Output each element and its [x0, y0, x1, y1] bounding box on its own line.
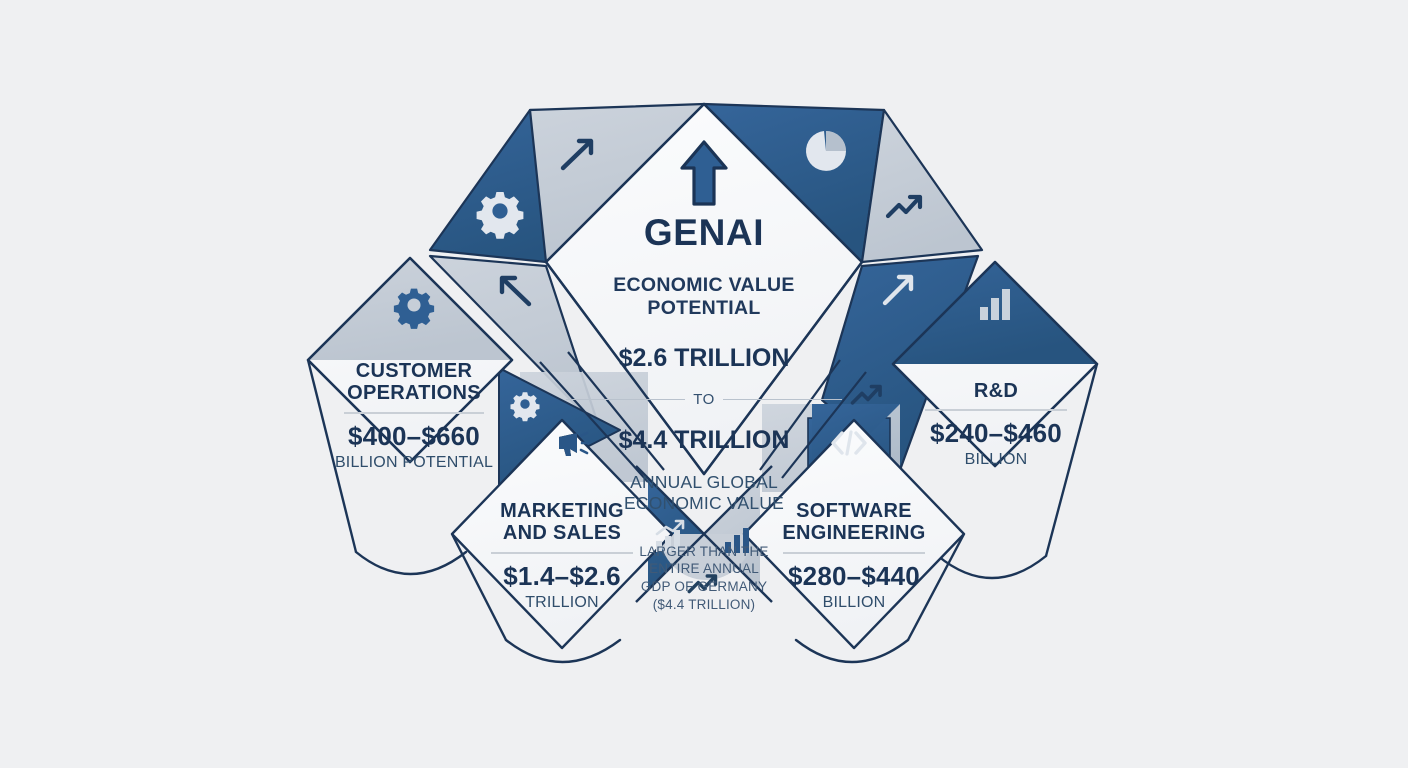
card-marketing-and-sales-unit: TRILLION [476, 593, 648, 612]
card-software-engineering[interactable]: SOFTWARE ENGINEERING $280–$440 BILLION [768, 500, 940, 612]
card-customer-operations-title: CUSTOMER OPERATIONS [328, 360, 500, 405]
infographic-canvas: GENAI ECONOMIC VALUE POTENTIAL $2.6 TRIL… [0, 0, 1408, 768]
card-software-engineering-unit: BILLION [768, 593, 940, 612]
card-marketing-and-sales-rule [491, 552, 633, 554]
card-software-engineering-rule [783, 552, 925, 554]
customer-bottom-curve [356, 552, 466, 574]
card-customer-operations-rule [344, 412, 484, 414]
pie-chart-icon [806, 131, 846, 171]
card-rd-amount: $240–$460 [912, 418, 1080, 449]
card-rd[interactable]: R&D $240–$460 BILLION [912, 380, 1080, 470]
card-marketing-and-sales-amount: $1.4–$2.6 [476, 561, 648, 592]
card-rd-title: R&D [912, 380, 1080, 402]
card-customer-operations-amount: $400–$660 [328, 421, 500, 452]
card-customer-operations[interactable]: CUSTOMER OPERATIONS $400–$660 BILLION PO… [328, 360, 500, 472]
card-customer-operations-unit: BILLION POTENTIAL [328, 453, 500, 472]
gear-icon [394, 289, 434, 329]
card-rd-rule [925, 409, 1067, 411]
card-software-engineering-title: SOFTWARE ENGINEERING [768, 500, 940, 545]
right-wing-gray-triangle [862, 110, 982, 262]
card-software-engineering-amount: $280–$440 [768, 561, 940, 592]
rd-bottom-curve [938, 556, 1046, 578]
diamond-composition [0, 0, 1408, 768]
card-marketing-and-sales-title: MARKETING AND SALES [476, 500, 648, 545]
card-marketing-and-sales[interactable]: MARKETING AND SALES $1.4–$2.6 TRILLION [476, 500, 648, 612]
gear-icon [510, 392, 539, 421]
card-rd-unit: BILLION [912, 450, 1080, 469]
gear-icon [477, 192, 524, 239]
